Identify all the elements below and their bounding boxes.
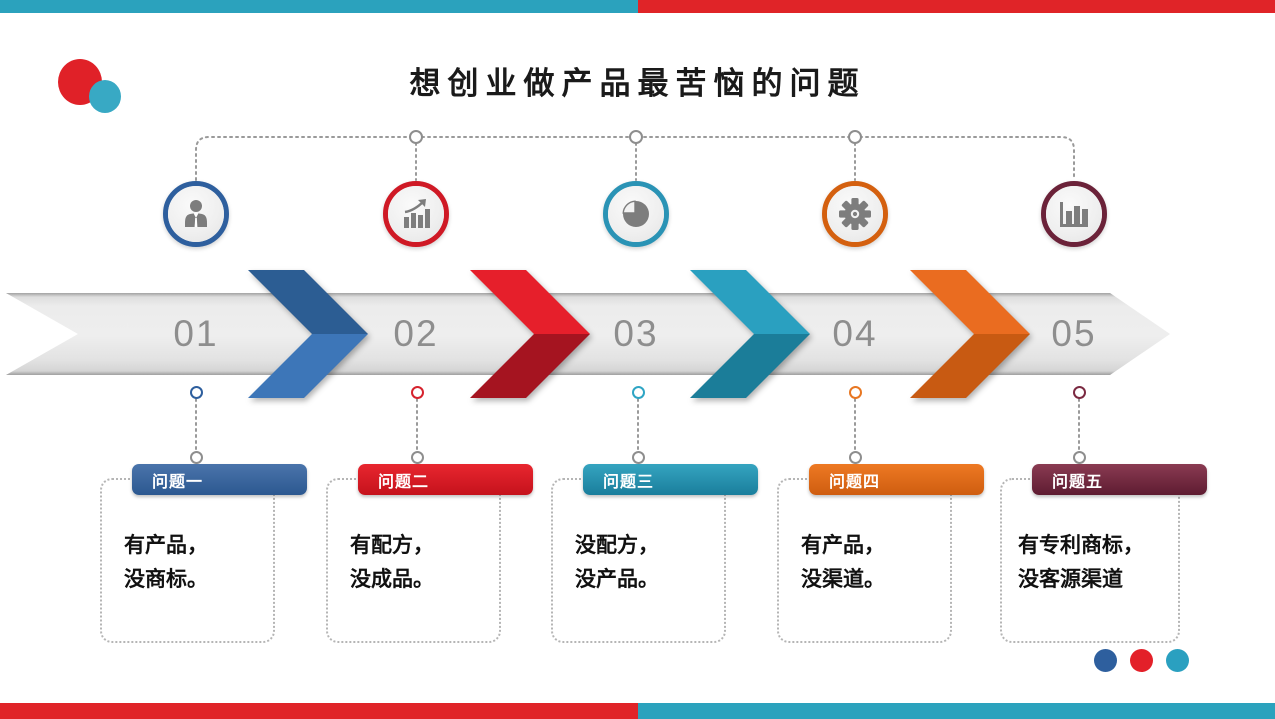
step-dot-5 — [1073, 386, 1086, 399]
step-dot-1 — [190, 386, 203, 399]
step-number-4: 04 — [810, 313, 900, 355]
problem-card-1[interactable]: 问题一 有产品， 没商标。 — [100, 478, 275, 643]
step-icon-5-inner — [1046, 186, 1102, 242]
businessperson-icon — [179, 197, 213, 231]
chevron-1 — [248, 270, 368, 398]
step-dot-2 — [411, 386, 424, 399]
step-icon-1-inner — [168, 186, 224, 242]
step-icon-2-inner — [388, 186, 444, 242]
problem-card-1-body: 有产品， 没商标。 — [102, 528, 273, 596]
problem-card-2-label: 问题二 — [378, 468, 429, 492]
problem-card-4-label: 问题四 — [829, 468, 880, 492]
step-icon-3[interactable] — [603, 181, 669, 247]
decorative-dot-3 — [1166, 649, 1189, 672]
step-icon-3-inner — [608, 186, 664, 242]
problem-card-5-body: 有专利商标， 没客源渠道 — [1002, 528, 1178, 596]
bar-chart-arrow-icon — [399, 198, 433, 230]
card-dot-5 — [1073, 451, 1086, 464]
card-dot-4 — [849, 451, 862, 464]
problem-card-5-line-2: 没客源渠道 — [1018, 562, 1178, 596]
problem-card-2-line-1: 有配方， — [350, 528, 499, 562]
chevron-2-bottom — [470, 334, 590, 398]
step-icon-5[interactable] — [1041, 181, 1107, 247]
bottom-accent-bar-right — [638, 703, 1275, 719]
gear-icon — [838, 197, 872, 231]
problem-card-5-label: 问题五 — [1052, 468, 1103, 492]
chevron-3-bottom — [690, 334, 810, 398]
decorative-dots — [1094, 649, 1189, 672]
chevron-3-top — [690, 270, 810, 334]
step-icon-1[interactable] — [163, 181, 229, 247]
problem-card-3-label: 问题三 — [603, 468, 654, 492]
top-accent-bar — [0, 0, 1275, 13]
problem-card-2-body: 有配方， 没成品。 — [328, 528, 499, 596]
decorative-dot-1 — [1094, 649, 1117, 672]
problem-card-1-header: 问题一 — [132, 464, 307, 495]
step-dot-3 — [632, 386, 645, 399]
problem-card-3[interactable]: 问题三 没配方， 没产品。 — [551, 478, 726, 643]
bar-chart-icon — [1057, 198, 1091, 230]
chevron-2 — [470, 270, 590, 398]
chevron-2-top — [470, 270, 590, 334]
rail-node-1 — [410, 131, 422, 143]
problem-card-5-line-1: 有专利商标， — [1018, 528, 1178, 562]
step-number-1: 01 — [151, 313, 241, 355]
rail-node-3 — [849, 131, 861, 143]
chevron-4 — [910, 270, 1030, 398]
problem-card-4-line-2: 没渠道。 — [801, 562, 950, 596]
problem-card-4[interactable]: 问题四 有产品， 没渠道。 — [777, 478, 952, 643]
problem-card-4-body: 有产品， 没渠道。 — [779, 528, 950, 596]
step-number-3: 03 — [591, 313, 681, 355]
bottom-accent-bar-left — [0, 703, 638, 719]
step-number-2: 02 — [371, 313, 461, 355]
decorative-dot-2 — [1130, 649, 1153, 672]
pie-chart-icon — [619, 197, 653, 231]
problem-card-1-line-1: 有产品， — [124, 528, 273, 562]
problem-card-3-body: 没配方， 没产品。 — [553, 528, 724, 596]
page-title: 想创业做产品最苦恼的问题 — [0, 58, 1275, 103]
problem-card-1-line-2: 没商标。 — [124, 562, 273, 596]
problem-card-4-line-1: 有产品， — [801, 528, 950, 562]
step-icon-4-inner — [827, 186, 883, 242]
chevron-4-top — [910, 270, 1030, 334]
rail-node-2 — [630, 131, 642, 143]
problem-card-5[interactable]: 问题五 有专利商标， 没客源渠道 — [1000, 478, 1180, 643]
card-dot-3 — [632, 451, 645, 464]
problem-card-2[interactable]: 问题二 有配方， 没成品。 — [326, 478, 501, 643]
top-accent-bar-right — [638, 0, 1275, 13]
problem-card-3-header: 问题三 — [583, 464, 758, 495]
chevron-1-bottom — [248, 334, 368, 398]
problem-card-2-line-2: 没成品。 — [350, 562, 499, 596]
step-icon-4[interactable] — [822, 181, 888, 247]
problem-card-4-header: 问题四 — [809, 464, 984, 495]
problem-card-1-label: 问题一 — [152, 468, 203, 492]
problem-card-2-header: 问题二 — [358, 464, 533, 495]
step-dot-4 — [849, 386, 862, 399]
step-number-5: 05 — [1029, 313, 1119, 355]
chevron-4-bottom — [910, 334, 1030, 398]
chevron-3 — [690, 270, 810, 398]
card-dot-2 — [411, 451, 424, 464]
problem-card-3-line-2: 没产品。 — [575, 562, 724, 596]
bottom-accent-bar — [0, 703, 1275, 719]
chevron-1-top — [248, 270, 368, 334]
step-icon-2[interactable] — [383, 181, 449, 247]
problem-card-3-line-1: 没配方， — [575, 528, 724, 562]
problem-card-5-header: 问题五 — [1032, 464, 1207, 495]
top-accent-bar-left — [0, 0, 638, 13]
card-dot-1 — [190, 451, 203, 464]
